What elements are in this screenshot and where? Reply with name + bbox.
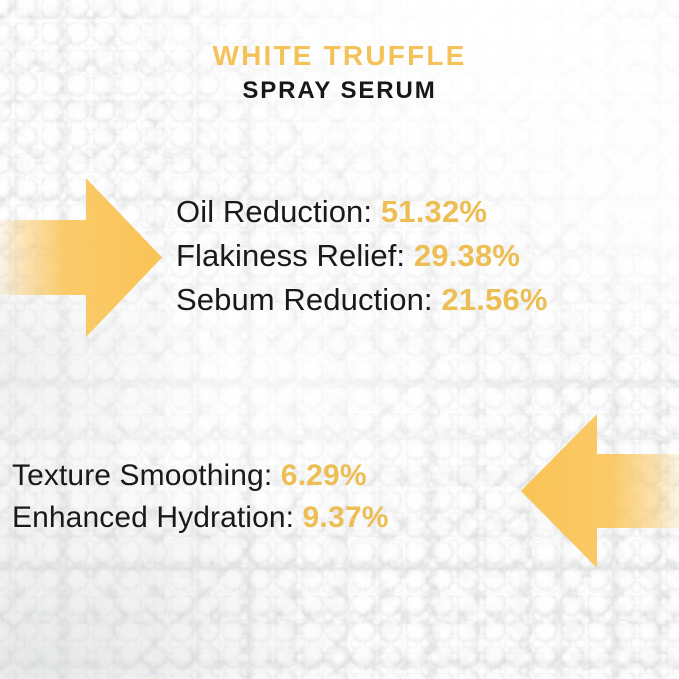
brand-title: WHITE TRUFFLE: [0, 40, 679, 72]
stats-group-secondary: Texture Smoothing: 6.29% Enhanced Hydrat…: [12, 455, 389, 539]
stat-row-enhanced-hydration: Enhanced Hydration: 9.37%: [12, 497, 389, 539]
stat-value: 29.38%: [414, 238, 520, 273]
stat-label: Oil Reduction:: [176, 194, 372, 229]
arrow-right-icon: [0, 176, 164, 339]
stat-value: 21.56%: [441, 282, 547, 317]
stat-value: 9.37%: [303, 501, 389, 534]
stat-label: Texture Smoothing:: [12, 459, 272, 492]
stat-label: Flakiness Relief:: [176, 238, 405, 273]
stat-row-flakiness-relief: Flakiness Relief: 29.38%: [176, 234, 548, 278]
product-subtitle: SPRAY SERUM: [0, 77, 679, 106]
stat-label: Sebum Reduction:: [176, 282, 433, 317]
stats-group-primary: Oil Reduction: 51.32% Flakiness Relief: …: [176, 190, 548, 322]
stat-value: 51.32%: [381, 194, 487, 229]
stat-row-oil-reduction: Oil Reduction: 51.32%: [176, 190, 548, 234]
stat-value: 6.29%: [281, 459, 367, 492]
arrow-left-icon: [519, 412, 679, 570]
stat-label: Enhanced Hydration:: [12, 501, 294, 534]
title-block: WHITE TRUFFLE SPRAY SERUM: [0, 40, 679, 106]
stat-row-sebum-reduction: Sebum Reduction: 21.56%: [176, 278, 548, 322]
stat-row-texture-smoothing: Texture Smoothing: 6.29%: [12, 455, 389, 497]
product-infographic: WHITE TRUFFLE SPRAY SERUM: [0, 0, 679, 679]
